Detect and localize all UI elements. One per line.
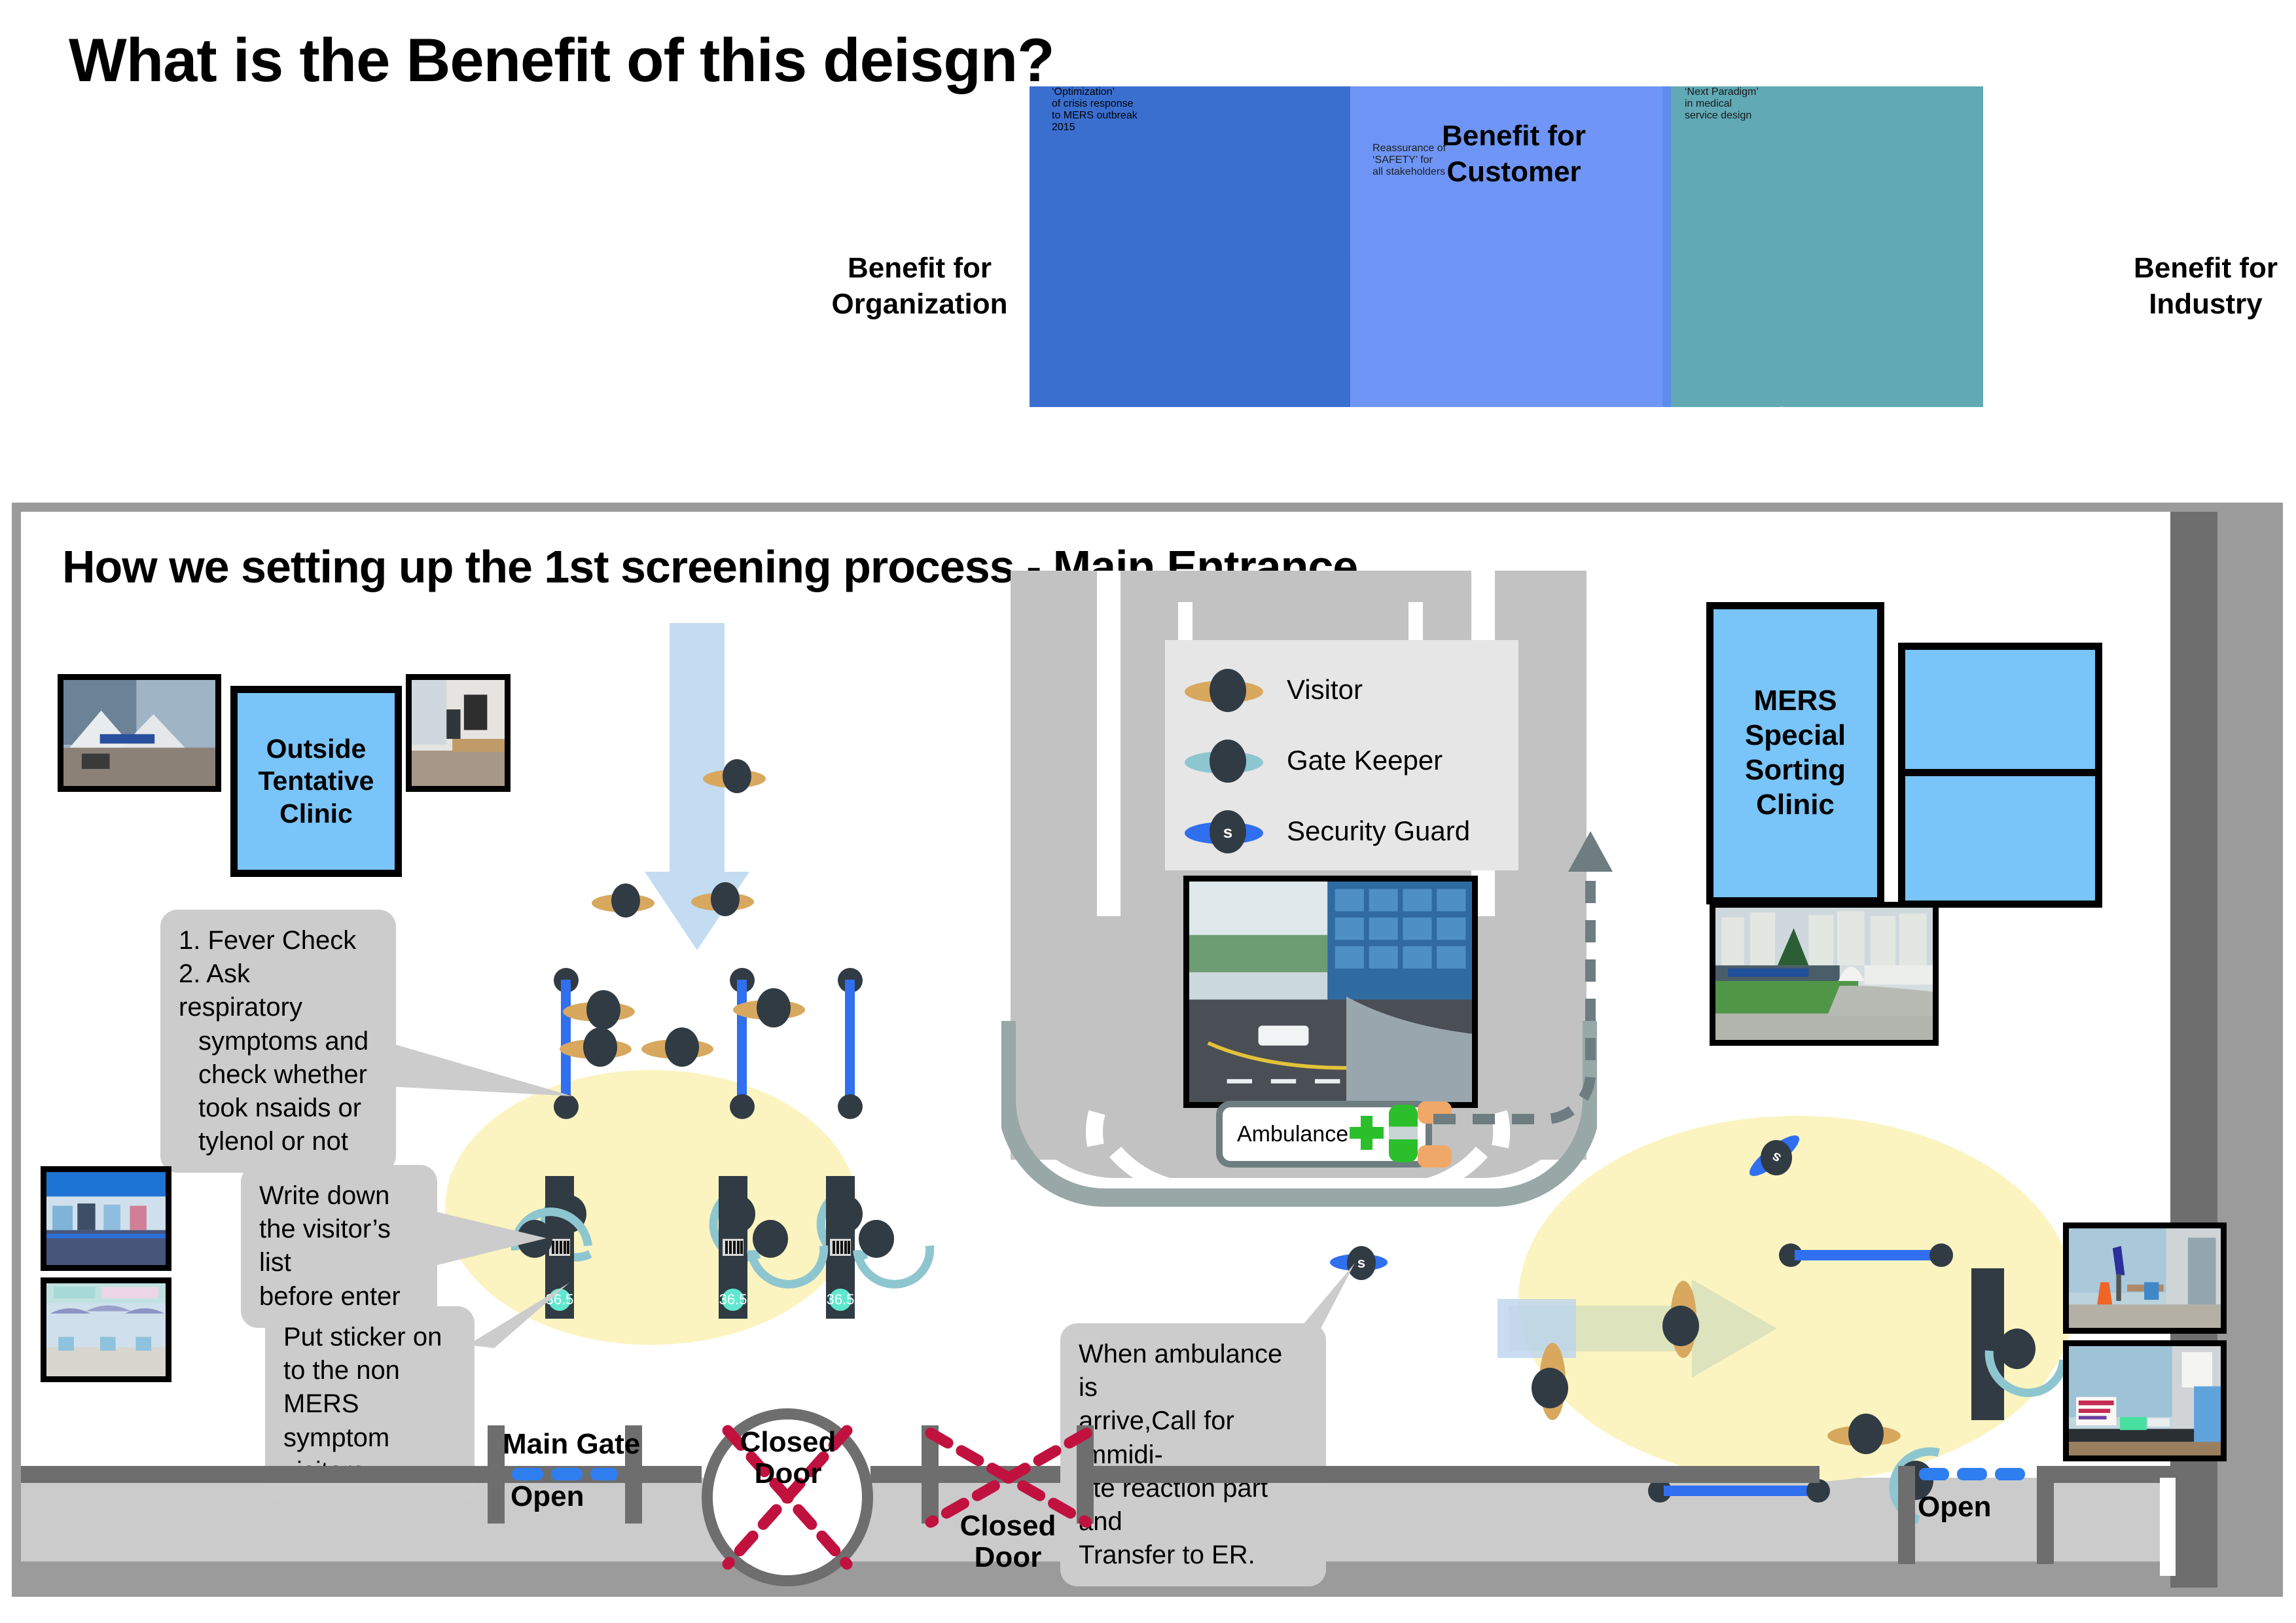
venn-ind-line3: service design [1685,110,1961,122]
callout-fever-check: 1. Fever Check 2. Ask respiratory sympto… [160,910,396,1173]
ambulance-rear-panel [1389,1105,1418,1162]
venn-label-customer: Benefit for Customer [1419,118,1609,190]
callout-sticker-tail [468,1283,573,1355]
mers-clinic-line2: Special [1745,719,1846,753]
wall-gap [2160,1478,2176,1576]
venn-ind-line1: ‘Next Paradigm’ [1685,86,1961,98]
page-title: What is the Benefit of this deisgn? [69,25,1054,96]
photo-registration-desk [2063,1340,2227,1461]
callout-fever-line2: 2. Ask respiratory [179,957,378,1024]
venn-circle-organization: ‘Optimization’ of crisis response to MER… [1030,86,1350,407]
flow-entry-marker [1498,1299,1576,1358]
kiosk-temperature-reading: 36.5 [722,1289,744,1311]
legend-label-visitor: Visitor [1287,674,1363,705]
legend-label-gate-keeper: Gate Keeper [1287,745,1443,776]
venn-org-line3: to MERS outbreak [1052,110,1328,122]
blue-panel-lower [1898,769,2102,908]
venn-industry-text: ‘Next Paradigm’ in medical service desig… [1662,86,1983,122]
venn-label-organization: Benefit for Organization [828,250,1011,322]
venn-org-line1: ‘Optimization’ [1052,86,1328,98]
ambulance-wheel [1418,1145,1452,1168]
gate-open-dash [512,1468,543,1480]
callout-fever-line6: tylenol or not [179,1125,378,1158]
photo-clinic-umbrellas [41,1277,171,1382]
closed-door-label-1: Closed Door [728,1427,848,1490]
venn-label-org-line1: Benefit for [828,250,1011,286]
gate-rail-right [1086,1466,1820,1483]
blue-panel-upper [1898,643,2102,778]
kiosk-temperature-reading: 36.5 [829,1289,852,1311]
ambulance-route-arrow-icon [1433,831,1636,1145]
label-outside-tentative-clinic: Outside Tentative Clinic [230,686,402,877]
callout-list-line2: the visitor’s list [259,1213,419,1279]
mers-clinic-line4: Clinic [1745,788,1846,823]
gate-post [1898,1466,1915,1564]
venn-flow-arrow-icon [1165,406,1911,484]
ambulance-label: Ambulance [1237,1122,1348,1147]
gate-rail-far-right [2049,1466,2170,1483]
venn-organization-text: ‘Optimization’ of crisis response to MER… [1030,86,1350,134]
callout-fever-line3: symptoms and [179,1025,378,1058]
callout-fever-check-tail [386,1034,576,1132]
venn-label-cust-line1: Benefit for [1419,118,1609,154]
callout-amb-line4: Transfer to ER. [1079,1539,1308,1572]
closed-door-1-line2: Door [728,1458,848,1489]
callout-amb-line1: When ambulance is [1079,1338,1308,1404]
gate-open-dash [1995,1468,2025,1480]
callout-fever-line4: check whether [179,1058,378,1092]
venn-label-org-line2: Organization [828,286,1011,322]
outside-clinic-line1: Outside [259,733,374,765]
photo-entrance-check-desk [2063,1222,2227,1334]
outside-clinic-line3: Clinic [259,798,374,830]
main-gate-label: Main Gate [503,1428,640,1461]
medical-cross-icon [1361,1116,1372,1150]
venn-org-line4: 2015 [1052,122,1328,134]
gate-open-dash [1957,1468,1987,1480]
venn-circle-industry: ‘Next Paradigm’ in medical service desig… [1662,86,1983,407]
venn-ind-line2: in medical [1685,98,1961,110]
callout-visitor-list: Write down the visitor’s list before ent… [241,1165,437,1328]
callout-sticker-line1: Put sticker on [283,1321,456,1354]
open-label-right: Open [1918,1491,1991,1524]
callout-amb-line2: arrive,Call for immidi- [1079,1404,1308,1471]
outside-clinic-line2: Tentative [259,765,374,797]
open-label-left: Open [511,1480,584,1513]
photo-mers-sorting-clinic-tents [1710,902,1939,1046]
callout-fever-line5: took nsaids or [179,1092,378,1125]
venn-label-cust-line2: Customer [1419,154,1609,190]
closed-door-1-line1: Closed [728,1427,848,1458]
callout-ambulance-tail [1302,1263,1374,1335]
closed-door-2-line2: Door [948,1542,1068,1573]
mers-clinic-line1: MERS [1745,684,1846,719]
closed-door-label-2: Closed Door [948,1510,1068,1574]
gate-open-dash [1919,1468,1949,1480]
callout-sticker-line2: to the non MERS [283,1354,456,1421]
photo-outside-tent-clinic [58,674,221,792]
photo-screening-tent [41,1166,171,1271]
security-badge-letter: s [1210,810,1246,853]
callout-ambulance-note: When ambulance is arrive,Call for immidi… [1060,1323,1326,1586]
venn-org-line2: of crisis response [1052,98,1328,110]
photo-clinic-desk [406,674,511,792]
venn-label-industry: Benefit for Industry [2114,250,2296,322]
venn-label-ind-line1: Benefit for [2114,250,2296,286]
label-mers-special-sorting-clinic: MERS Special Sorting Clinic [1706,602,1884,904]
venn-label-ind-line2: Industry [2114,286,2296,322]
callout-visitor-list-tail [432,1204,550,1283]
gate-open-dash [590,1468,618,1480]
callout-list-line1: Write down [259,1179,419,1213]
callout-fever-line1: 1. Fever Check [179,924,378,957]
gate-open-dash [551,1468,583,1480]
mers-clinic-line3: Sorting [1745,753,1846,788]
closed-door-2-line1: Closed [948,1510,1068,1542]
